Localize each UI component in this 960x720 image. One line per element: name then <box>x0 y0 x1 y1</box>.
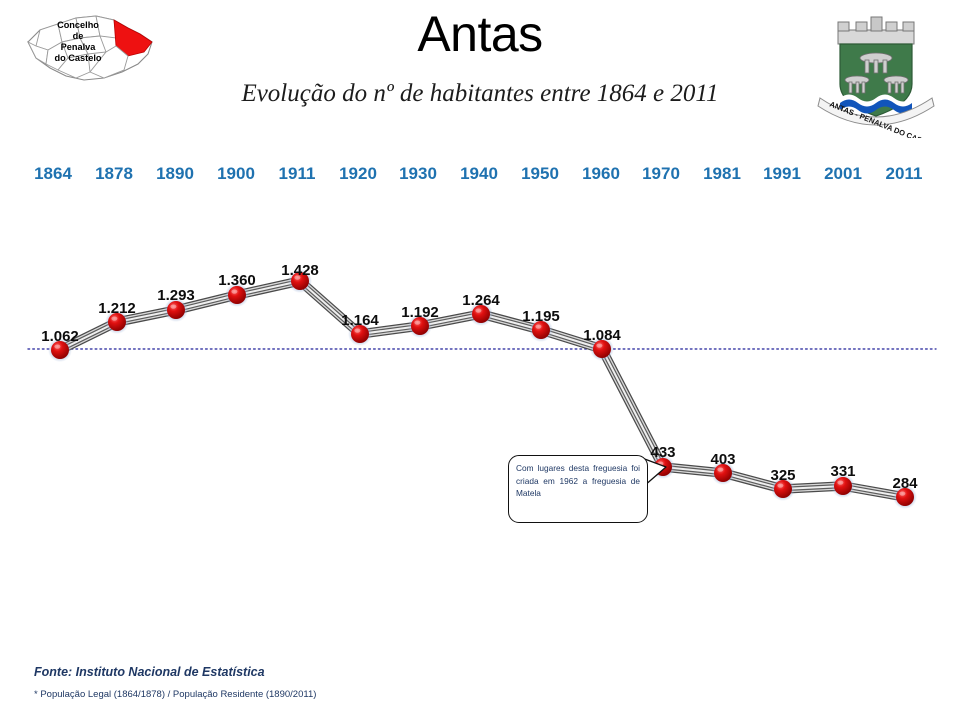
value-label-1991: 325 <box>770 467 795 484</box>
year-label-1878: 1878 <box>95 164 133 184</box>
value-label-1981: 403 <box>710 451 735 468</box>
series-line-layer-0 <box>60 281 905 497</box>
marker-highlight <box>231 290 237 294</box>
year-label-1920: 1920 <box>339 164 377 184</box>
year-label-1940: 1940 <box>460 164 498 184</box>
series-line-layer-3 <box>60 281 905 497</box>
value-label-1900: 1.360 <box>218 272 256 289</box>
value-label-1911: 1.428 <box>281 262 319 279</box>
year-axis: 1864187818901900191119201930194019501960… <box>0 164 960 194</box>
year-label-1960: 1960 <box>582 164 620 184</box>
marker-highlight <box>475 309 481 313</box>
page-title: Antas <box>0 8 960 61</box>
value-label-1878: 1.212 <box>98 300 136 317</box>
value-label-1864: 1.062 <box>41 328 79 345</box>
value-label-2001: 331 <box>830 463 855 480</box>
marker-highlight <box>535 325 541 329</box>
value-label-1920: 1.164 <box>341 312 379 329</box>
series-line <box>60 281 905 497</box>
year-label-1911: 1911 <box>279 164 316 184</box>
year-label-1981: 1981 <box>703 164 741 184</box>
marker-highlight <box>54 345 60 349</box>
year-label-1991: 1991 <box>763 164 801 184</box>
marker-highlight <box>596 344 602 348</box>
page-subtitle: Evolução do nº de habitantes entre 1864 … <box>0 80 960 108</box>
value-label-1950: 1.195 <box>522 308 560 325</box>
footer-note: * População Legal (1864/1878) / Populaçã… <box>34 689 316 700</box>
marker-highlight <box>717 468 723 472</box>
series-line-layer-2 <box>60 281 905 497</box>
year-label-1900: 1900 <box>217 164 255 184</box>
series-line-layer-1 <box>60 281 905 497</box>
year-label-1890: 1890 <box>156 164 194 184</box>
marker-highlight <box>899 492 905 496</box>
marker-highlight <box>414 321 420 325</box>
value-label-1930: 1.192 <box>401 304 439 321</box>
value-label-1960: 1.084 <box>583 327 621 344</box>
annotation-callout-text: Com lugares desta freguesia foi criada e… <box>516 462 640 500</box>
marker-highlight <box>777 484 783 488</box>
year-label-1930: 1930 <box>399 164 437 184</box>
marker-highlight <box>837 481 843 485</box>
marker-highlight <box>354 329 360 333</box>
value-label-2011: 284 <box>892 475 917 492</box>
year-label-2011: 2011 <box>886 164 923 184</box>
year-label-1950: 1950 <box>521 164 559 184</box>
year-label-1970: 1970 <box>642 164 680 184</box>
value-label-1940: 1.264 <box>462 292 500 309</box>
value-label-1890: 1.293 <box>157 287 195 304</box>
marker-highlight <box>111 317 117 321</box>
year-label-1864: 1864 <box>34 164 72 184</box>
marker-highlight <box>170 305 176 309</box>
slide-canvas: Concelho de Penalva do Castelo <box>0 0 960 720</box>
year-label-2001: 2001 <box>824 164 862 184</box>
annotation-callout[interactable]: Com lugares desta freguesia foi criada e… <box>508 455 648 523</box>
footer-source: Fonte: Instituto Nacional de Estatística <box>34 665 265 679</box>
